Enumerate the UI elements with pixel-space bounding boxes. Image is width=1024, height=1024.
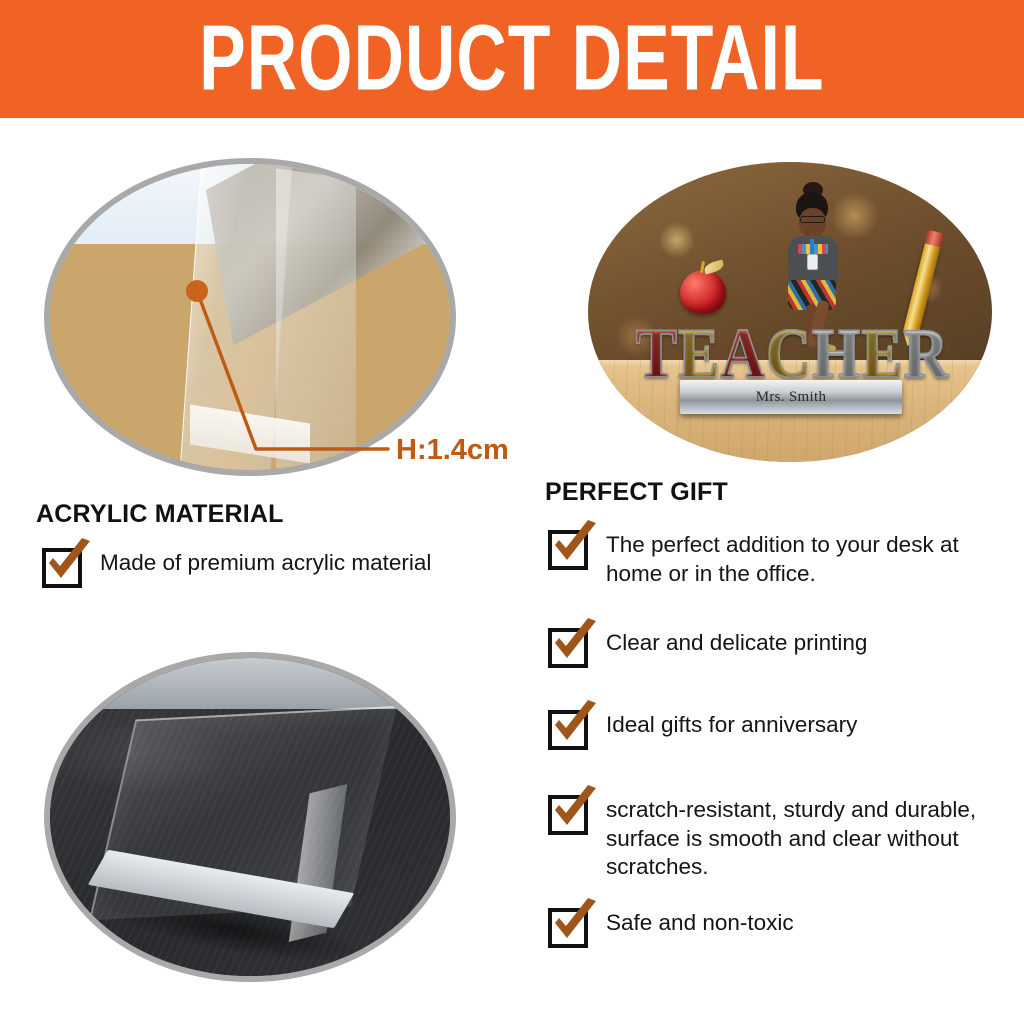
feature-item: Clear and delicate printing (548, 626, 867, 668)
teacher-letter-6: R (904, 321, 949, 389)
section-heading-perfect-gift: PERFECT GIFT (545, 478, 728, 507)
check-icon (548, 898, 602, 948)
teacher-letter-5: E (861, 321, 902, 389)
feature-label: The perfect addition to your desk at hom… (606, 531, 1006, 588)
feature-label: Ideal gifts for anniversary (606, 711, 857, 740)
page-header-banner: PRODUCT DETAIL (0, 0, 1024, 118)
acrylic-block-edge-photo (44, 158, 456, 476)
checkbox-checked[interactable] (548, 628, 588, 668)
nameplate-base: Mrs. Smith (680, 380, 902, 414)
feature-item: Made of premium acrylic material (42, 546, 431, 588)
teacher-letter-2: A (720, 321, 765, 389)
teacher-word-letters: TEACHER (684, 302, 900, 384)
feature-label: Safe and non-toxic (606, 909, 794, 938)
teacher-letter-1: E (678, 321, 719, 389)
figure-head (799, 208, 826, 238)
check-icon (42, 538, 96, 588)
figure-glasses-icon (800, 216, 825, 223)
dimension-callout-label: H:1.4cm (396, 434, 509, 467)
check-icon (548, 700, 602, 750)
feature-label: scratch-resistant, sturdy and durable, s… (606, 796, 1006, 882)
feature-item: scratch-resistant, sturdy and durable, s… (548, 793, 1006, 882)
engraved-name: Mrs. Smith (756, 389, 827, 406)
checkbox-checked[interactable] (548, 710, 588, 750)
feature-item: The perfect addition to your desk at hom… (548, 528, 1006, 588)
feature-item: Ideal gifts for anniversary (548, 708, 857, 750)
teacher-letter-0: T (636, 321, 677, 389)
feature-label: Made of premium acrylic material (100, 549, 431, 578)
teacher-letter-3: C (766, 321, 811, 389)
acrylic-block-flat-photo (44, 652, 456, 982)
checkbox-checked[interactable] (548, 795, 588, 835)
section-heading-acrylic-material: ACRYLIC MATERIAL (36, 500, 284, 529)
teacher-letter-4: H (812, 321, 860, 389)
feature-item: Safe and non-toxic (548, 906, 794, 948)
page-title: PRODUCT DETAIL (199, 13, 824, 106)
check-icon (548, 618, 602, 668)
feature-label: Clear and delicate printing (606, 629, 867, 658)
photo-background-strip (50, 658, 450, 709)
check-icon (548, 785, 602, 835)
checkbox-checked[interactable] (548, 908, 588, 948)
checkbox-checked[interactable] (42, 548, 82, 588)
check-icon (548, 520, 602, 570)
checkbox-checked[interactable] (548, 530, 588, 570)
figure-id-badge (807, 254, 818, 270)
teacher-nameplate-photo: TEACHER Mrs. Smith (588, 162, 992, 462)
